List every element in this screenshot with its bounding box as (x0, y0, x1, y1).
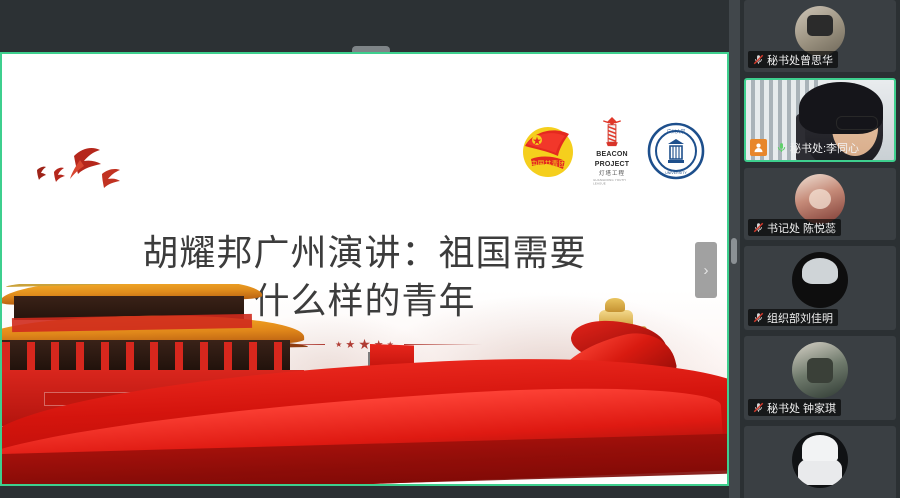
mic-muted-icon (753, 312, 764, 323)
red-doves-icon (30, 134, 140, 194)
presentation-slide[interactable]: 中国共青团 BEACON PROJECT 灯塔工程 (2, 54, 727, 484)
avatar-image (795, 174, 845, 224)
slide-logo-row: 中国共青团 BEACON PROJECT 灯塔工程 (519, 116, 705, 186)
mic-muted-icon (753, 54, 764, 65)
beacon-logo-en-line2: PROJECT (595, 161, 629, 169)
participant-name: 秘书处 钟家琪 (767, 400, 836, 416)
communist-youth-league-emblem: 中国共青团 (519, 122, 577, 180)
participant-name-bar: 组织部刘佳明 (748, 309, 838, 326)
avatar (792, 432, 848, 488)
avatar-image (792, 252, 848, 308)
participant-name: 秘书处曾思华 (767, 52, 833, 68)
participant-name-bar: 秘书处 钟家琪 (748, 399, 841, 416)
beacon-logo-sub: GUANGDONG YOUTH LEAGUE (593, 178, 631, 185)
slide-artwork (2, 284, 727, 484)
participant-tile[interactable]: 书记处 陈悦蕊 (744, 168, 896, 240)
panel-splitter-grip[interactable] (731, 238, 737, 264)
beacon-logo-en-line1: BEACON (596, 151, 628, 159)
shared-screen-stage: 中国共青团 BEACON PROJECT 灯塔工程 (0, 0, 735, 498)
participant-tile[interactable] (744, 426, 896, 498)
stage-top-bar (0, 0, 735, 52)
column-top-beast (605, 298, 625, 312)
participant-name: 秘书处:李同心 (790, 140, 859, 156)
participant-name-bar: 秘书处:李同心 (771, 139, 864, 156)
participant-tile[interactable]: 秘书处 钟家琪 (744, 336, 896, 420)
participant-name-bar: 秘书处曾思华 (748, 51, 838, 68)
participant-tile[interactable]: 组织部刘佳明 (744, 246, 896, 330)
avatar-image (792, 342, 848, 398)
slide-title-line1: 胡耀邦广州演讲：祖国需要 (142, 232, 586, 273)
avatar (795, 174, 845, 224)
avatar-image (792, 432, 848, 488)
avatar (792, 342, 848, 398)
host-person-icon (750, 139, 767, 156)
svg-text:UNIVERSITY: UNIVERSITY (665, 171, 687, 175)
participant-tile[interactable]: 秘书处:李同心 (744, 78, 896, 162)
participant-tile[interactable]: 秘书处曾思华 (744, 0, 896, 72)
participant-strip[interactable]: 秘书处曾思华 (740, 0, 900, 498)
next-slide-button[interactable]: › (695, 242, 717, 298)
beacon-project-logo: BEACON PROJECT 灯塔工程 GUANGDONG YOUTH LEAG… (591, 116, 633, 186)
svg-text:广州大学: 广州大学 (667, 128, 686, 135)
participant-name-bar: 书记处 陈悦蕊 (748, 219, 841, 236)
avatar (795, 6, 845, 56)
avatar (792, 252, 848, 308)
mic-muted-icon (753, 222, 764, 233)
university-seal-logo: 广州大学 UNIVERSITY (647, 122, 705, 180)
gate-pillars (2, 342, 282, 372)
participant-name: 书记处 陈悦蕊 (767, 220, 836, 236)
active-speaker-share-frame: 中国共青团 BEACON PROJECT 灯塔工程 (0, 52, 729, 486)
mic-muted-icon (753, 402, 764, 413)
beacon-logo-cn: 灯塔工程 (599, 169, 625, 177)
zoom-meeting-window: 中国共青团 BEACON PROJECT 灯塔工程 (0, 0, 900, 498)
svg-text:中国共青团: 中国共青团 (531, 159, 566, 168)
chevron-right-icon: › (704, 263, 709, 278)
mic-on-icon (776, 142, 787, 153)
participant-name: 组织部刘佳明 (767, 310, 833, 326)
avatar-image (795, 6, 845, 56)
video-person-glasses (836, 116, 878, 130)
